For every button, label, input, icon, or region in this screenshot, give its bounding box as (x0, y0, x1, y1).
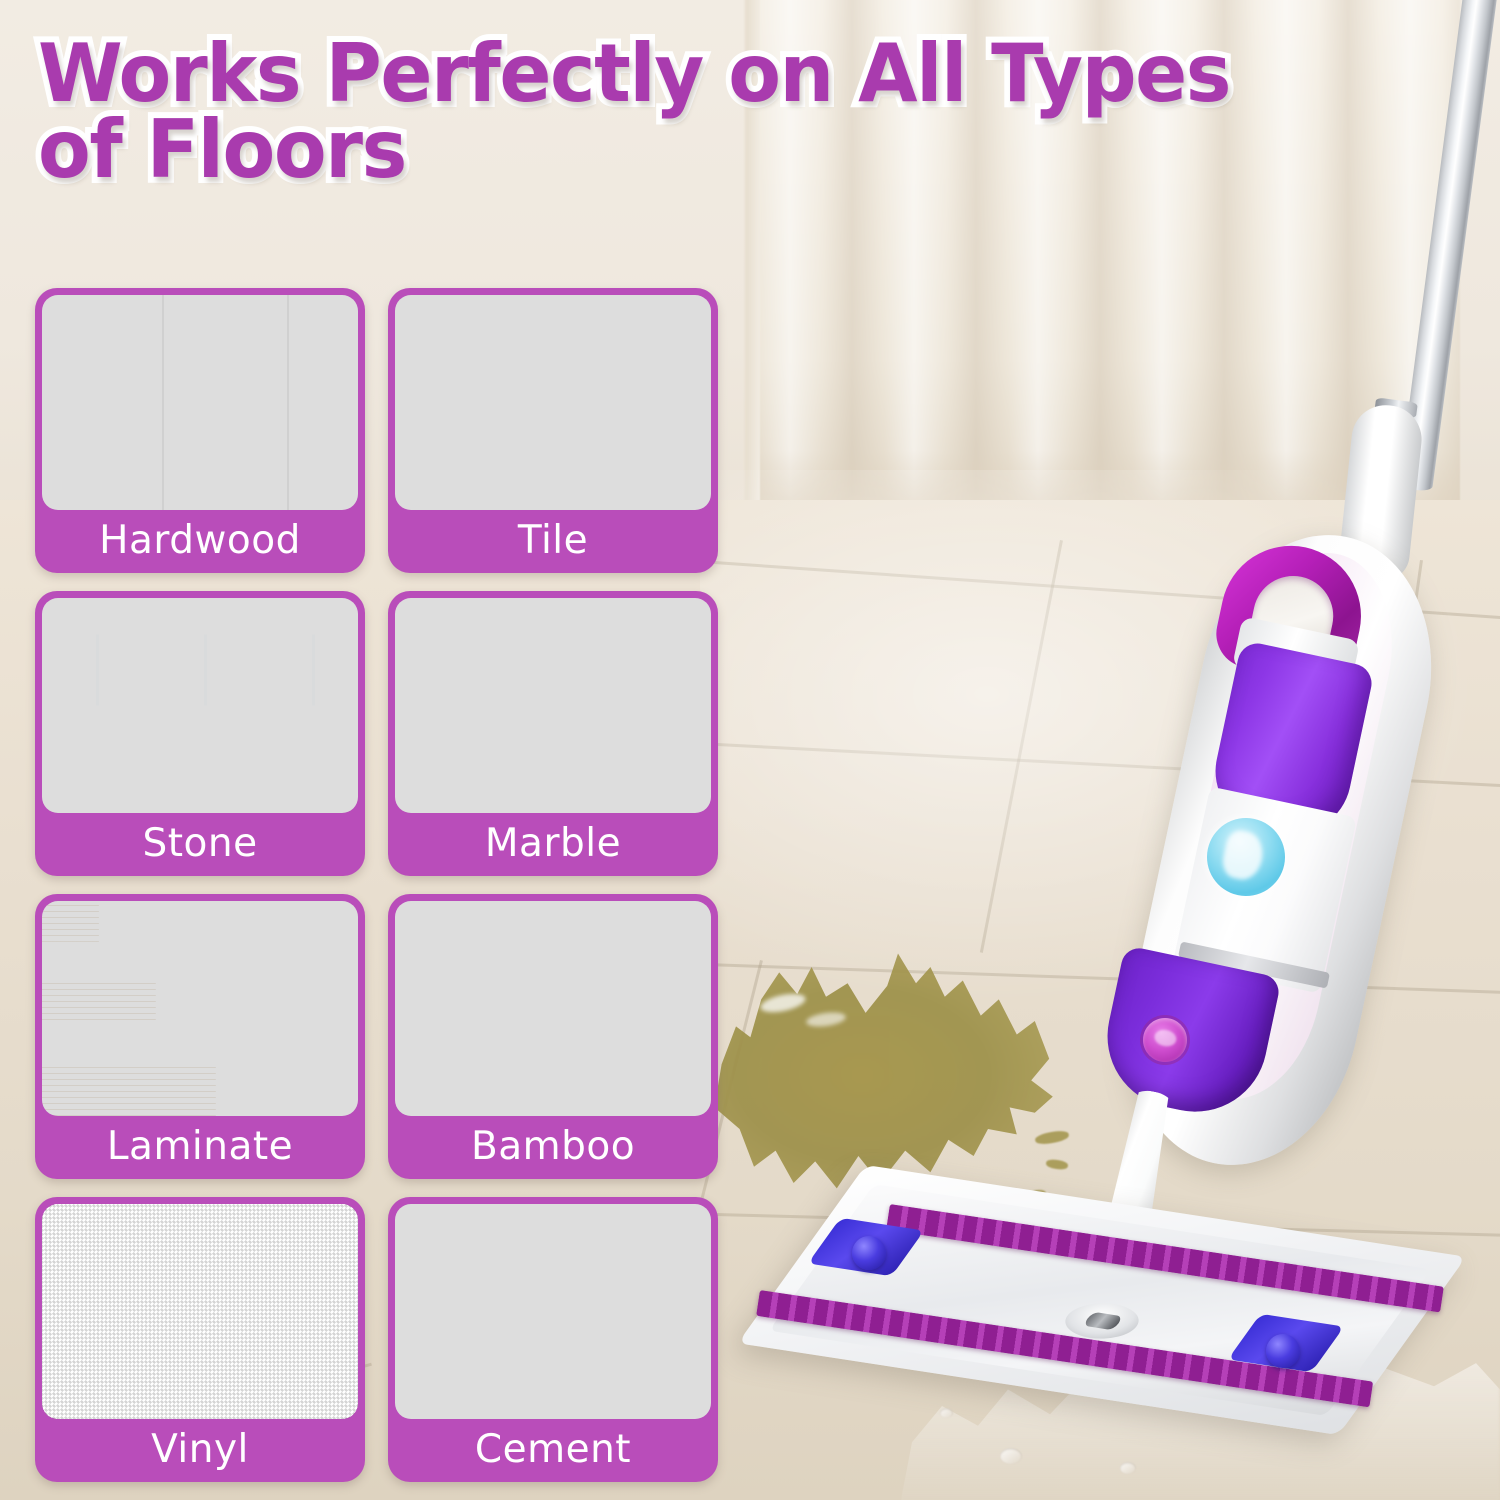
floor-type-card[interactable]: Stone (35, 591, 365, 876)
floor-type-card[interactable]: Vinyl (35, 1197, 365, 1482)
water-droplet (1000, 1448, 1022, 1464)
floor-type-label-band: Marble (388, 813, 718, 876)
bamboo-grain-texture (395, 901, 711, 1116)
floor-type-label-band: Laminate (35, 1116, 365, 1179)
floor-type-card[interactable]: Cement (388, 1197, 718, 1482)
floor-type-label: Bamboo (471, 1127, 635, 1166)
vinyl-speckle-texture (42, 1204, 358, 1419)
floor-type-label-band: Bamboo (388, 1116, 718, 1179)
floor-type-card[interactable]: Laminate (35, 894, 365, 1179)
floor-type-card[interactable]: Bamboo (388, 894, 718, 1179)
floor-type-label: Hardwood (99, 521, 301, 560)
floor-type-label-band: Stone (35, 813, 365, 876)
floor-type-label-band: Cement (388, 1419, 718, 1482)
water-droplet (1120, 1462, 1136, 1474)
floor-type-label: Cement (475, 1430, 631, 1469)
floor-type-grid: HardwoodTileStoneMarbleLaminateBambooVin… (35, 288, 725, 1482)
tile-grid-texture (395, 295, 711, 510)
cement-mottled-texture (395, 1204, 711, 1419)
floor-type-label-band: Vinyl (35, 1419, 365, 1482)
floor-type-label-band: Tile (388, 510, 718, 573)
marble-veined-texture (395, 598, 711, 813)
floor-type-label: Laminate (107, 1127, 293, 1166)
floor-type-label: Stone (142, 824, 257, 863)
headline-line-2: of Floors (38, 103, 406, 196)
hardwood-plank-texture (42, 295, 358, 510)
floor-type-label: Tile (518, 521, 588, 560)
stone-slate-texture (42, 598, 358, 813)
laminate-parquet-texture (42, 901, 358, 1116)
floor-type-card[interactable]: Tile (388, 288, 718, 573)
floor-type-card[interactable]: Marble (388, 591, 718, 876)
page-title: Works Perfectly on All Typesof Floors (38, 36, 1420, 188)
floor-type-label: Vinyl (151, 1430, 249, 1469)
floor-type-label-band: Hardwood (35, 510, 365, 573)
floor-type-label: Marble (485, 824, 621, 863)
floor-type-card[interactable]: Hardwood (35, 288, 365, 573)
water-droplet (940, 1408, 953, 1418)
